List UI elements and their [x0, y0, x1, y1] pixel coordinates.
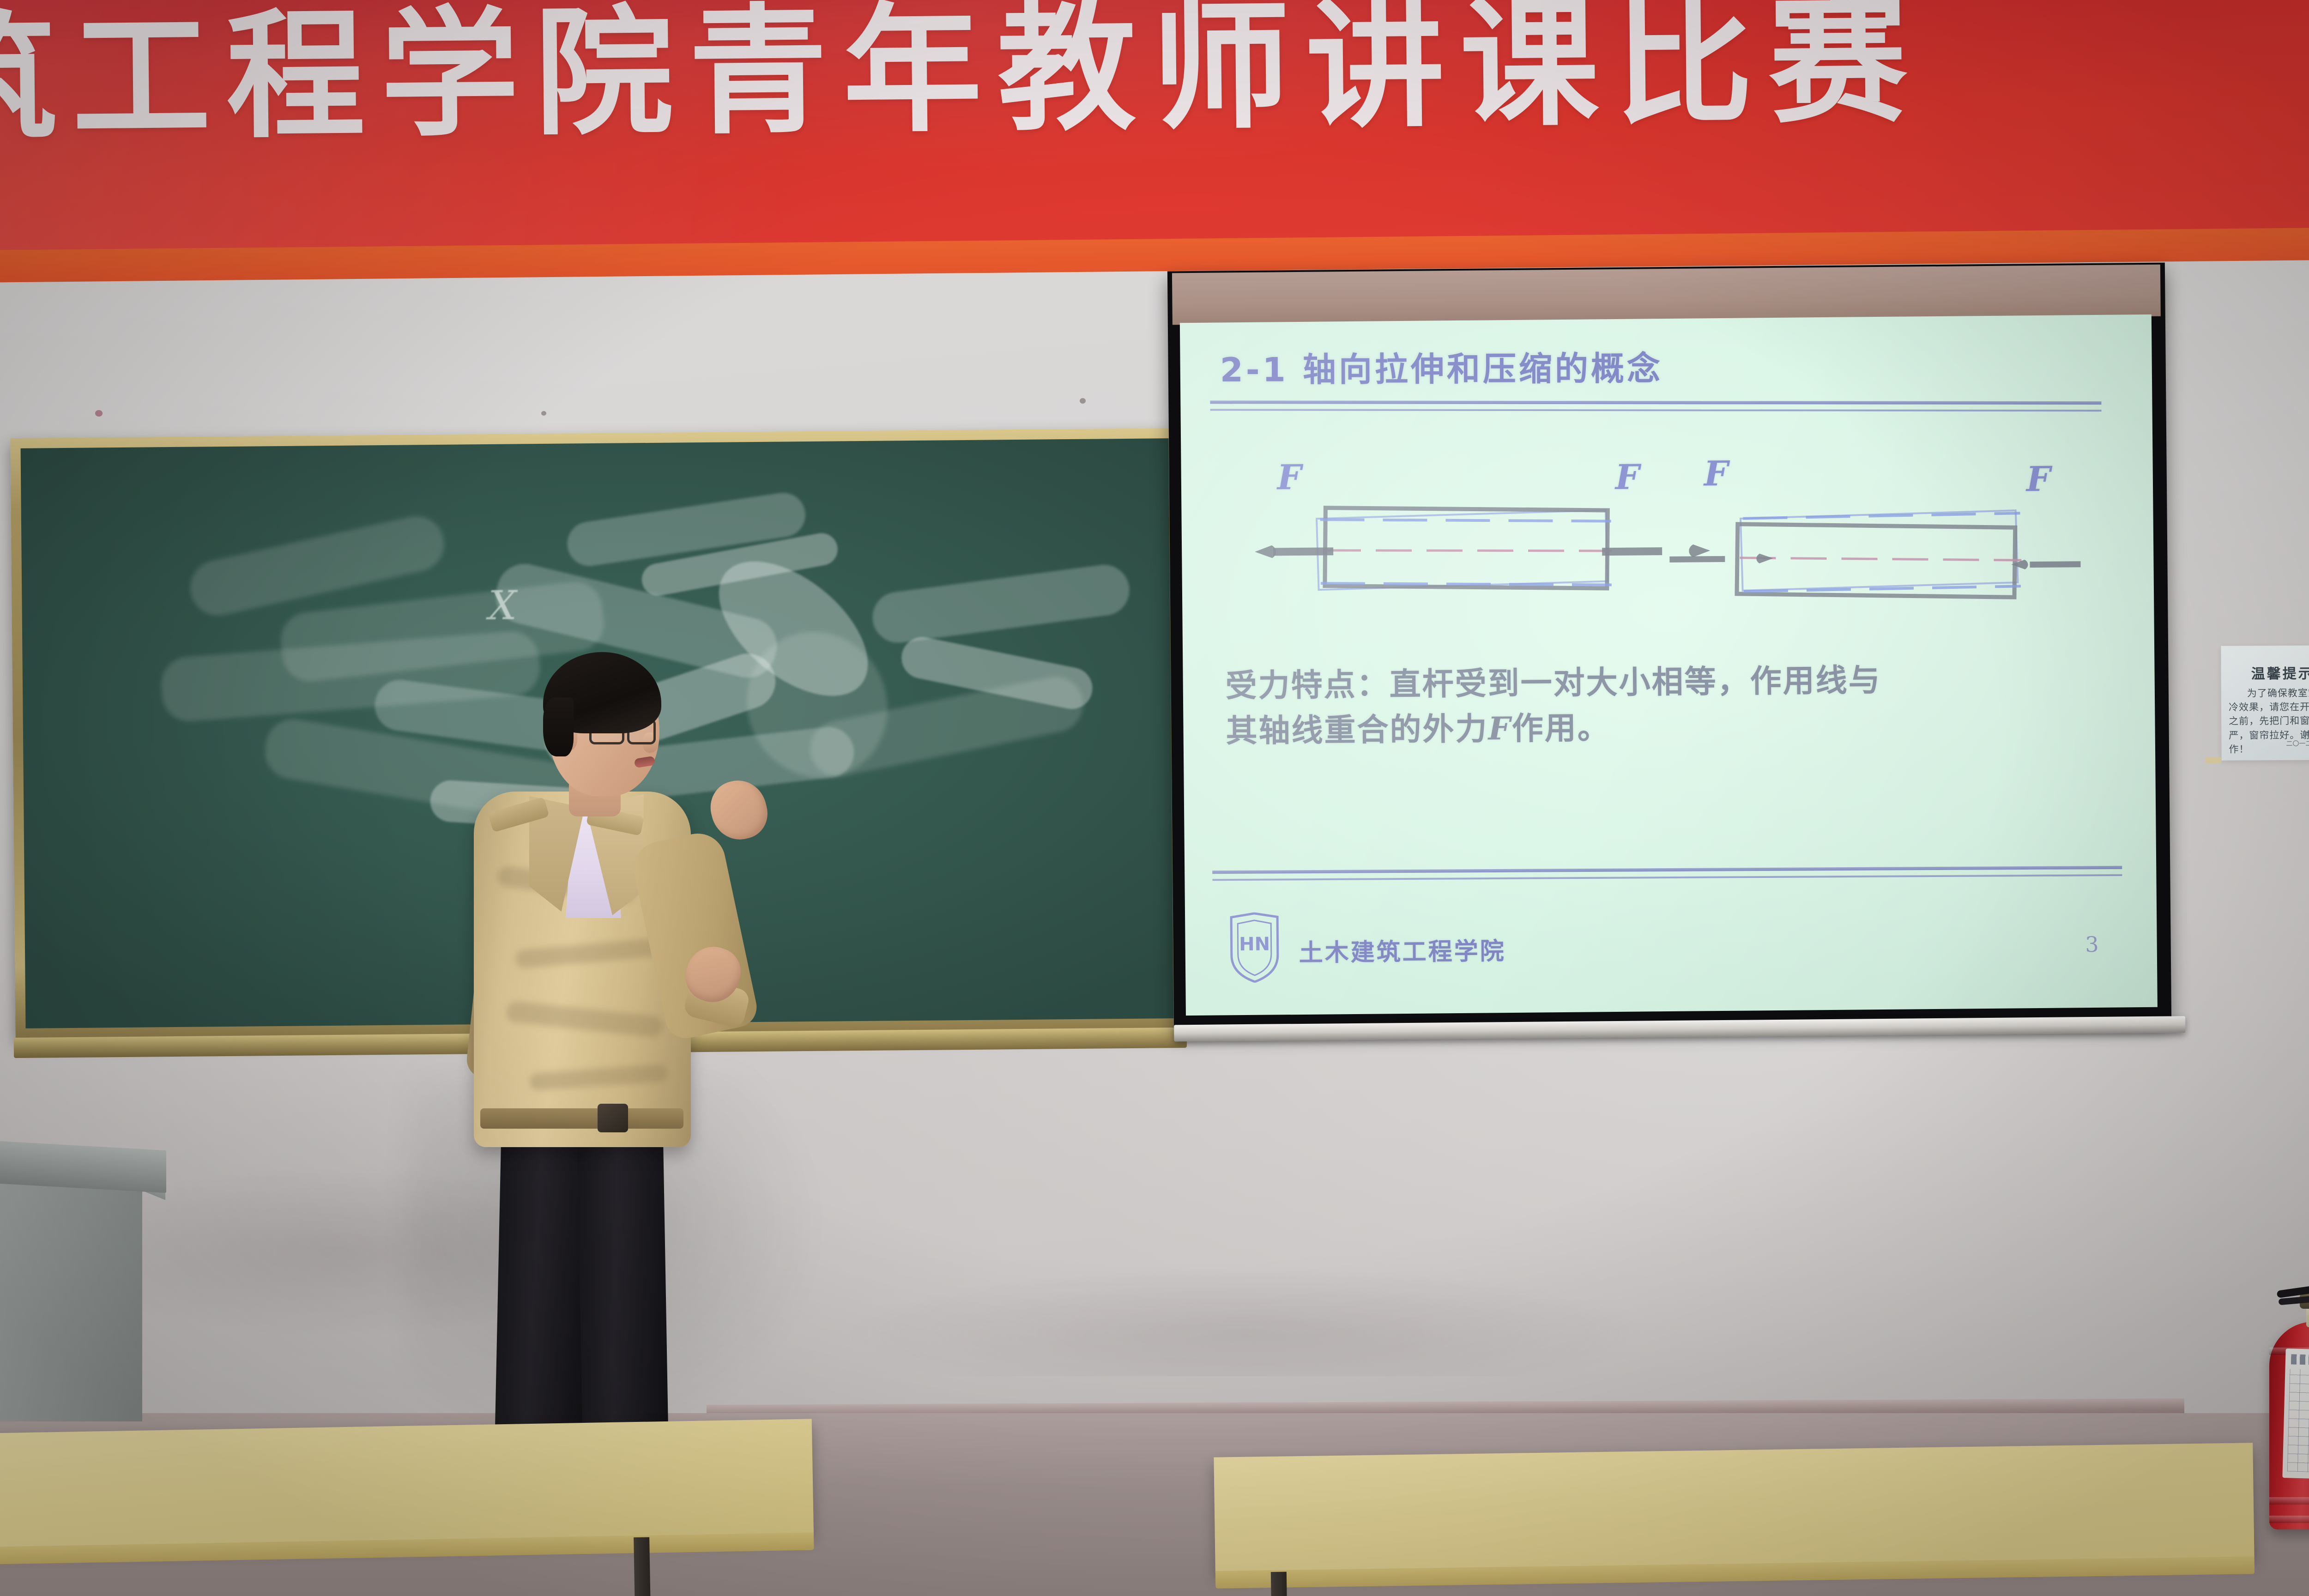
- projection-screen: 2-1 轴向拉伸和压缩的概念 F F F F: [1167, 263, 2171, 1029]
- air-conditioner-notice-title: 温馨提示: [2221, 662, 2309, 683]
- podium-body: [0, 1181, 142, 1421]
- air-conditioner-notice-signature: 电教中心 二〇一二年月日: [2286, 729, 2309, 749]
- tension-arrow-left: [1255, 543, 1333, 559]
- force-label-tension-left: F: [1277, 460, 1301, 495]
- slide-page-number: 3: [2085, 932, 2099, 957]
- compression-diagram: F F: [1675, 453, 2083, 596]
- slide-title: 2-1 轴向拉伸和压缩的概念: [1220, 341, 1663, 391]
- tension-arrow-right: [1602, 543, 1680, 559]
- slide-body-force-symbol: F: [1488, 710, 1512, 747]
- force-label-tension-right: F: [1615, 460, 1639, 495]
- lectern-podium: [0, 1145, 185, 1432]
- event-banner-text: 筑工程学院青年教师讲课比赛: [0, 0, 2309, 149]
- student-desk-right: [1214, 1443, 2254, 1572]
- chalkboard-glyph: X: [488, 583, 517, 629]
- slide-footer-rule-upper: [1212, 866, 2122, 874]
- presenter: [462, 642, 804, 1469]
- classroom-photo-scene: 筑工程学院青年教师讲课比赛 X: [0, 0, 2309, 1596]
- slide-body-text: 受力特点：直杆受到一对大小相等，作用线与 其轴线重合的外力F作用。: [1225, 657, 2067, 754]
- slide-body-line-1: 受力特点：直杆受到一对大小相等，作用线与: [1225, 657, 2066, 709]
- slide-body-line-2-pre: 其轴线重合的外力: [1226, 711, 1488, 750]
- presenter-belt-buckle: [598, 1104, 628, 1132]
- tension-diagram: F F: [1250, 457, 1667, 599]
- presenter-hand-right: [705, 774, 773, 845]
- desk-left-leg: [634, 1537, 651, 1596]
- event-banner: 筑工程学院青年教师讲课比赛: [0, 0, 2309, 269]
- student-desk-left: [0, 1419, 814, 1548]
- slide-title-rule-upper: [1210, 400, 2101, 405]
- slide-footer-rule-lower: [1212, 874, 2122, 881]
- svg-text:HN: HN: [1239, 934, 1270, 955]
- slide-footer-org: 土木建筑工程学院: [1299, 931, 1506, 968]
- slide-body-line-2-post: 作用。: [1512, 710, 1611, 747]
- fire-extinguisher-ring-lower: [2269, 1497, 2309, 1505]
- university-crest-icon: HN: [1227, 912, 1281, 983]
- presenter-coat-belt: [480, 1108, 683, 1129]
- wall-speck-3: [1080, 398, 1086, 404]
- fire-extinguisher-ring-base: [2269, 1516, 2309, 1523]
- slide-title-rule-lower: [1210, 409, 2102, 411]
- slide-body-line-2: 其轴线重合的外力F作用。: [1226, 701, 2067, 754]
- slide-footer: HN 土木建筑工程学院 3: [1221, 897, 2127, 997]
- notice-signature-date: 二〇一二年月日: [2286, 739, 2309, 749]
- notice-signature-org: 电教中心: [2286, 729, 2309, 739]
- fire-extinguisher: [2250, 1257, 2309, 1576]
- compression-arrow-right: [2011, 558, 2080, 570]
- presenter-hair-sideburn: [543, 697, 574, 756]
- air-conditioner-notice: 温馨提示 为了确保教室空调制冷效果，请您在开空调之前，先把门和窗口关严，窗帘拉好…: [2221, 645, 2309, 760]
- force-label-compression-left: F: [1704, 457, 1728, 491]
- compression-arrow-left: [1669, 553, 1743, 565]
- force-label-compression-right: F: [2026, 462, 2051, 496]
- wall-tape-left: [2206, 757, 2221, 763]
- wall-speck-2: [541, 411, 546, 416]
- presentation-slide: 2-1 轴向拉伸和压缩的概念 F F F F: [1180, 314, 2158, 1016]
- podium-top-surface: [0, 1140, 166, 1193]
- desk-right-leg: [1271, 1572, 1287, 1596]
- wall-speck-1: [95, 410, 103, 417]
- fire-extinguisher-inspection-label: [2282, 1348, 2309, 1480]
